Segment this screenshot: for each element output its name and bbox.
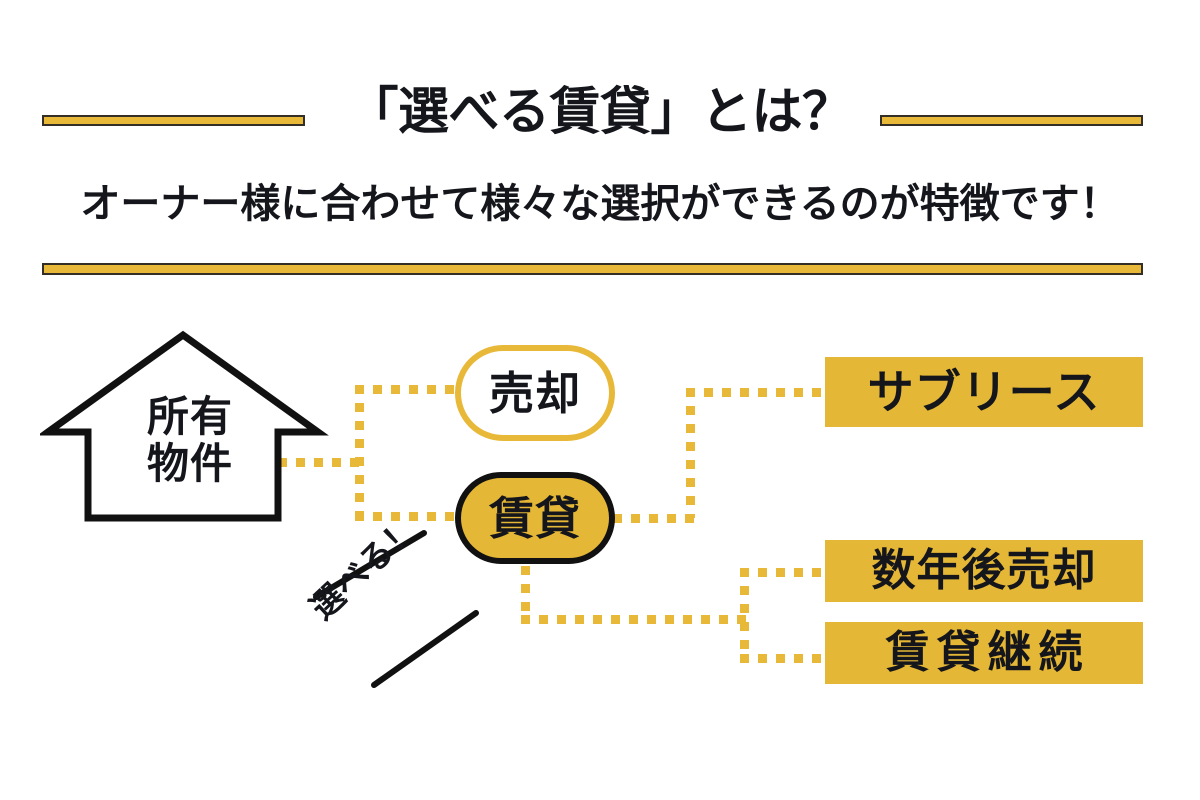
outcome-sell-later-box[interactable]: 数年後売却 (825, 540, 1143, 602)
connector-sublease-riser (686, 388, 695, 518)
connector-lower-riser (740, 568, 749, 663)
connector-rent-drop (521, 566, 530, 622)
connector-trunk-to-sale (355, 385, 465, 394)
owned-property-label: 所有 物件 (100, 393, 280, 487)
connector-riser-to-sublease (686, 388, 831, 397)
owned-property-label-line1: 所有 (100, 393, 280, 440)
connector-riser-to-keep-renting (740, 654, 832, 663)
outcome-keep-renting-box[interactable]: 賃貸継続 (825, 622, 1143, 684)
connector-riser-to-sell-later (740, 568, 832, 577)
outcome-sell-later-label: 数年後売却 (872, 549, 1097, 593)
header-divider-rule (42, 263, 1143, 275)
owned-property-node[interactable]: 所有 物件 (40, 325, 330, 530)
outcome-sublease-label: サブリース (868, 369, 1101, 415)
choose-annotation: 選べる！ (300, 525, 485, 695)
connector-rent-bottom-run (521, 615, 749, 624)
option-sale-pill[interactable]: 売却 (455, 345, 615, 441)
option-rent-label: 賃貸 (489, 496, 581, 541)
diagram-canvas: 「選べる賃貸」とは？ オーナー様に合わせて様々な選択ができるのが特徴です！ 所有… (0, 0, 1200, 800)
outcome-keep-renting-label: 賃貸継続 (879, 631, 1090, 675)
option-sale-label: 売却 (489, 371, 581, 416)
page-title: 「選べる賃貸」とは？ (0, 86, 1200, 137)
owned-property-label-line2: 物件 (100, 440, 280, 487)
outcome-sublease-box[interactable]: サブリース (825, 357, 1143, 427)
connector-trunk-vertical (355, 385, 364, 520)
page-subtitle: オーナー様に合わせて様々な選択ができるのが特徴です！ (0, 180, 1200, 228)
connector-rent-to-sublease-riser (613, 514, 695, 523)
